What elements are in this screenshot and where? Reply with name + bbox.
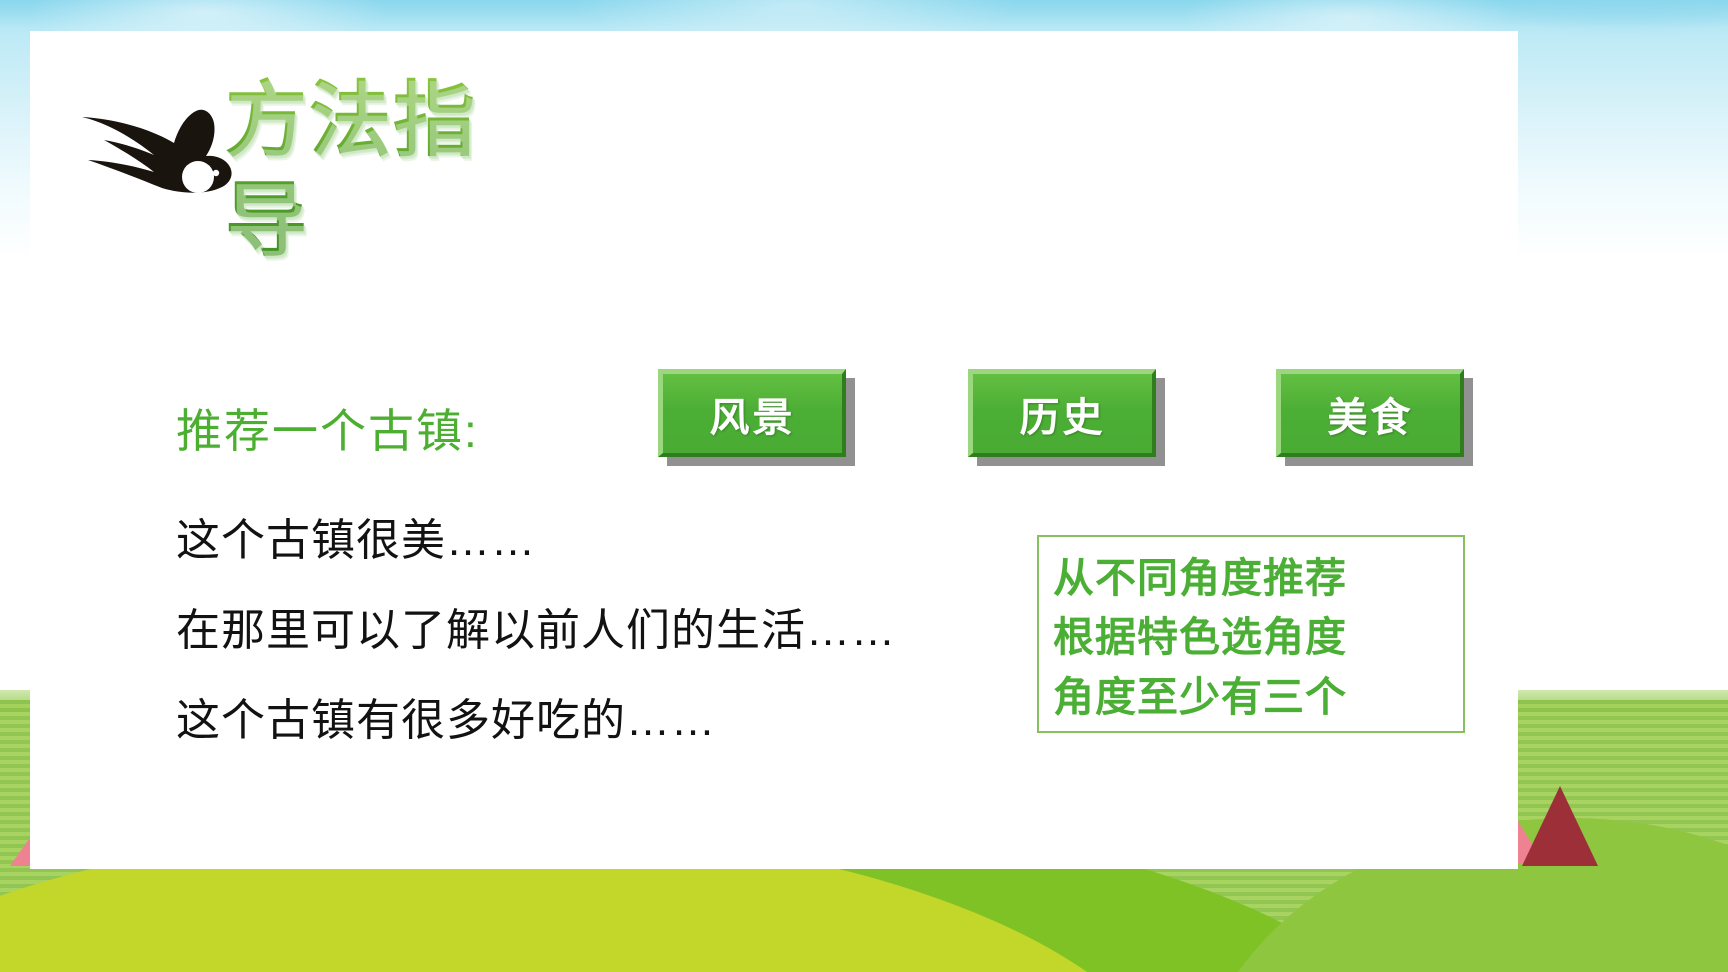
category-button-scenery[interactable]: 风景 [658,369,846,457]
category-button-food-label: 美食 [1328,385,1414,443]
lead-prompt: 推荐一个古镇: [176,395,479,461]
slide-canvas: 方法指导 推荐一个古镇: 这个古镇很美…… 在那里可以了解以前人们的生活…… 这… [0,0,1728,972]
page-title: 方法指导 [225,71,555,271]
tip-line-1: 从不同角度推荐 [1053,549,1449,608]
swallow-icon [70,103,240,213]
mountain-right-darkred [1522,786,1598,866]
tip-line-2: 根据特色选角度 [1053,608,1449,667]
category-button-history-label: 历史 [1020,385,1106,443]
category-button-scenery-label: 风景 [710,385,796,443]
category-button-history[interactable]: 历史 [968,369,1156,457]
tip-line-3: 角度至少有三个 [1053,668,1449,727]
body-line-2: 在那里可以了解以前人们的生活…… [176,594,896,658]
content-card: 方法指导 推荐一个古镇: 这个古镇很美…… 在那里可以了解以前人们的生活…… 这… [30,31,1518,869]
tip-box: 从不同角度推荐 根据特色选角度 角度至少有三个 [1037,535,1465,733]
body-line-3: 这个古镇有很多好吃的…… [176,684,716,748]
category-button-food[interactable]: 美食 [1276,369,1464,457]
body-line-1: 这个古镇很美…… [176,504,536,568]
slide-header: 方法指导 [50,61,590,311]
